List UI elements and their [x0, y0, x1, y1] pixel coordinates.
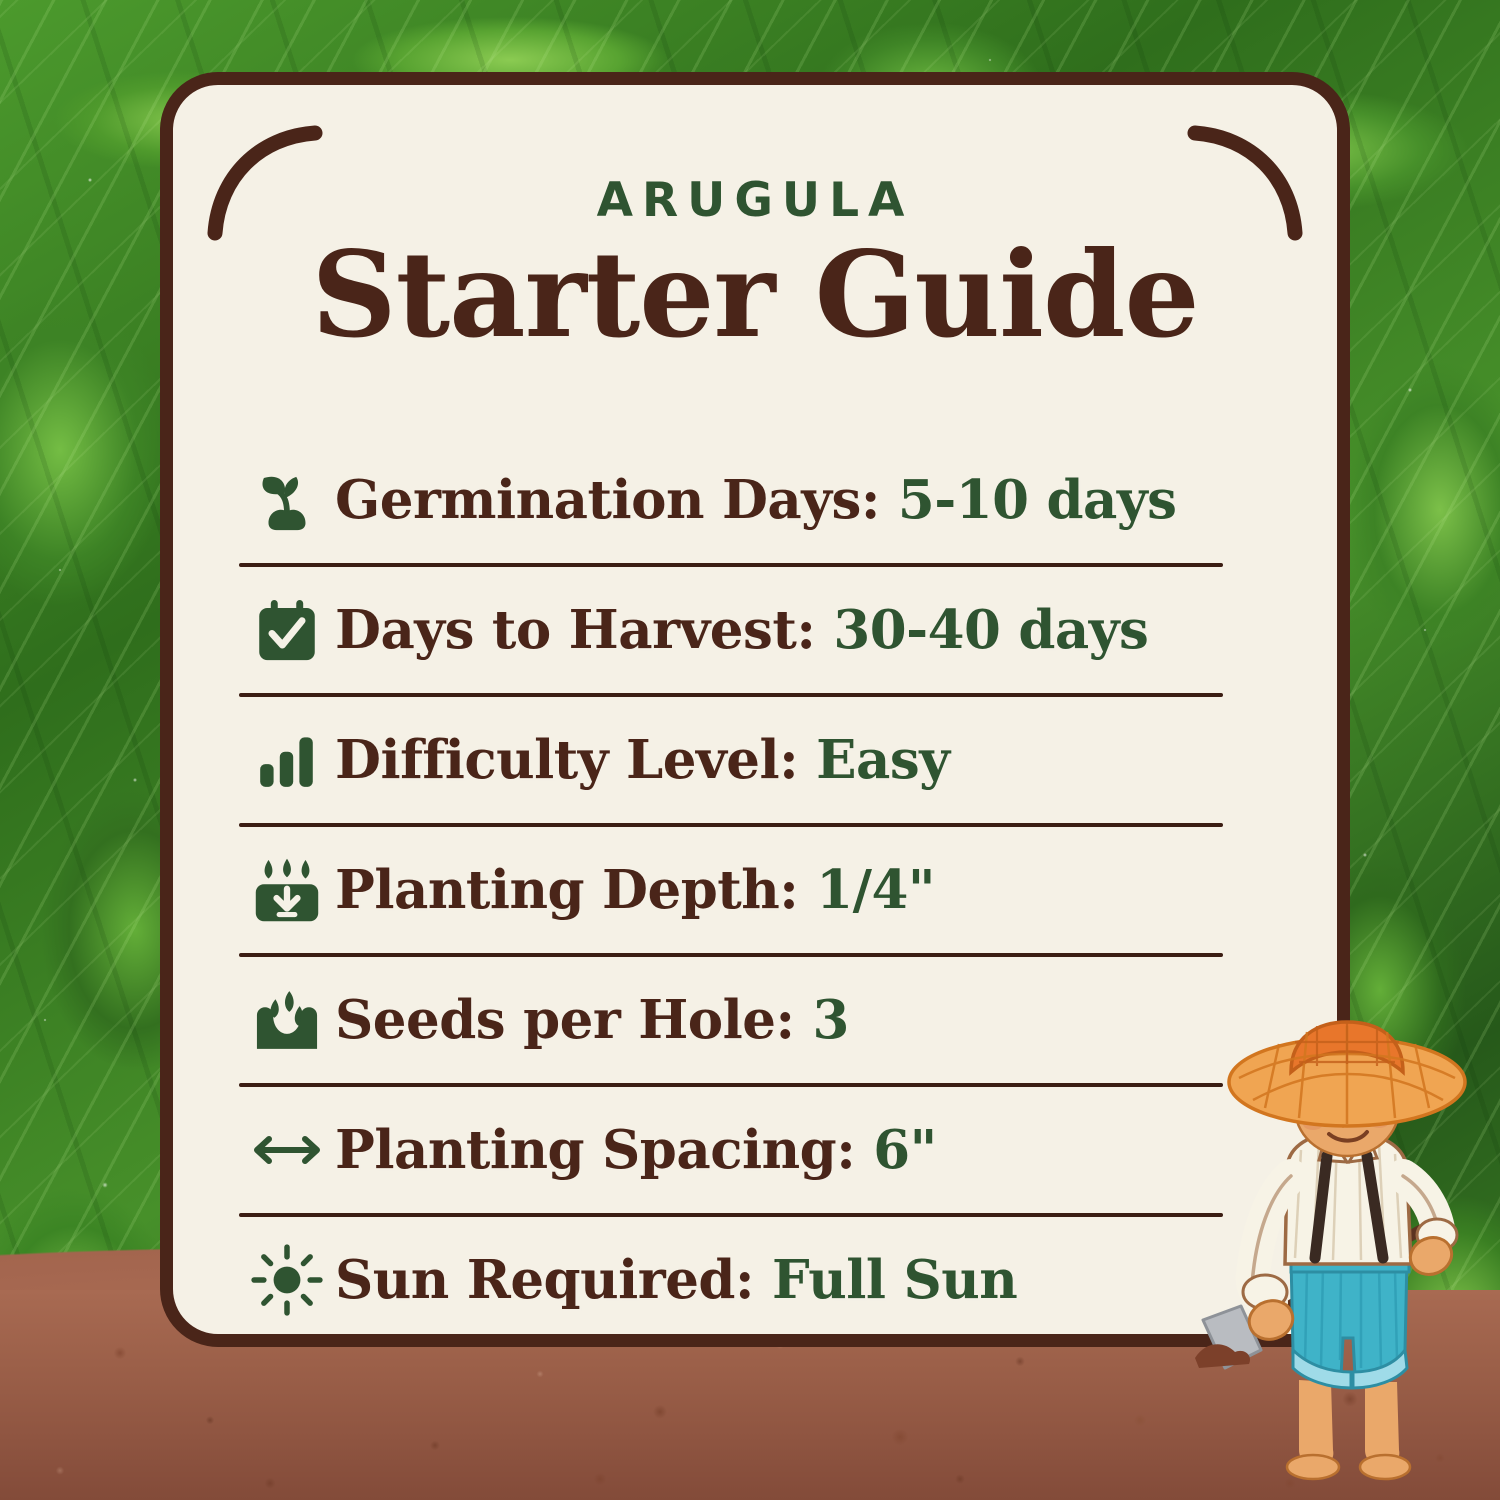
list-item: Sun Required: Full Sun: [225, 1217, 1285, 1343]
list-item-text: Sun Required: Full Sun: [335, 1249, 1017, 1311]
crop-name: ARUGULA: [173, 173, 1337, 228]
list-item-value: Full Sun: [772, 1249, 1017, 1311]
list-item-label: Difficulty Level:: [335, 729, 816, 791]
list-item-label: Planting Depth:: [335, 859, 816, 921]
calendar-check-icon: [239, 593, 335, 667]
bar-chart-icon: [239, 727, 335, 793]
list-item: Days to Harvest: 30-40 days: [225, 567, 1285, 693]
page-title: Starter Guide: [173, 225, 1337, 364]
list-item-value: 1/4": [816, 859, 935, 921]
list-item-label: Days to Harvest:: [335, 599, 833, 661]
list-item-text: Seeds per Hole: 3: [335, 989, 849, 1051]
arrows-horizontal-icon: [239, 1121, 335, 1179]
list-item-text: Difficulty Level: Easy: [335, 729, 950, 791]
list-item: Planting Depth: 1/4": [225, 827, 1285, 953]
poster-canvas: ARUGULA Starter Guide Germination Days: …: [0, 0, 1500, 1500]
facts-list: Germination Days: 5-10 days Days to Harv…: [225, 437, 1285, 1343]
list-item-label: Seeds per Hole:: [335, 989, 813, 1051]
starter-guide-card: ARUGULA Starter Guide Germination Days: …: [160, 72, 1350, 1347]
list-item-value: 30-40 days: [833, 599, 1148, 661]
list-item-text: Planting Spacing: 6": [335, 1119, 937, 1181]
list-item-text: Days to Harvest: 30-40 days: [335, 599, 1148, 661]
list-item: Planting Spacing: 6": [225, 1087, 1285, 1213]
gardener-illustration: [1195, 1020, 1500, 1490]
planting-depth-icon: [239, 853, 335, 927]
list-item-value: Easy: [816, 729, 949, 791]
list-item-value: 5-10 days: [898, 469, 1177, 531]
sun-icon: [239, 1241, 335, 1319]
list-item-label: Sun Required:: [335, 1249, 772, 1311]
list-item: Difficulty Level: Easy: [225, 697, 1285, 823]
seeds-in-hole-icon: [239, 983, 335, 1057]
list-item: Germination Days: 5-10 days: [225, 437, 1285, 563]
list-item-text: Germination Days: 5-10 days: [335, 469, 1177, 531]
list-item-label: Germination Days:: [335, 469, 898, 531]
sprout-icon: [239, 463, 335, 537]
list-item-text: Planting Depth: 1/4": [335, 859, 935, 921]
list-item-value: 3: [813, 989, 849, 1051]
list-item: Seeds per Hole: 3: [225, 957, 1285, 1083]
list-item-label: Planting Spacing:: [335, 1119, 873, 1181]
list-item-value: 6": [873, 1119, 937, 1181]
